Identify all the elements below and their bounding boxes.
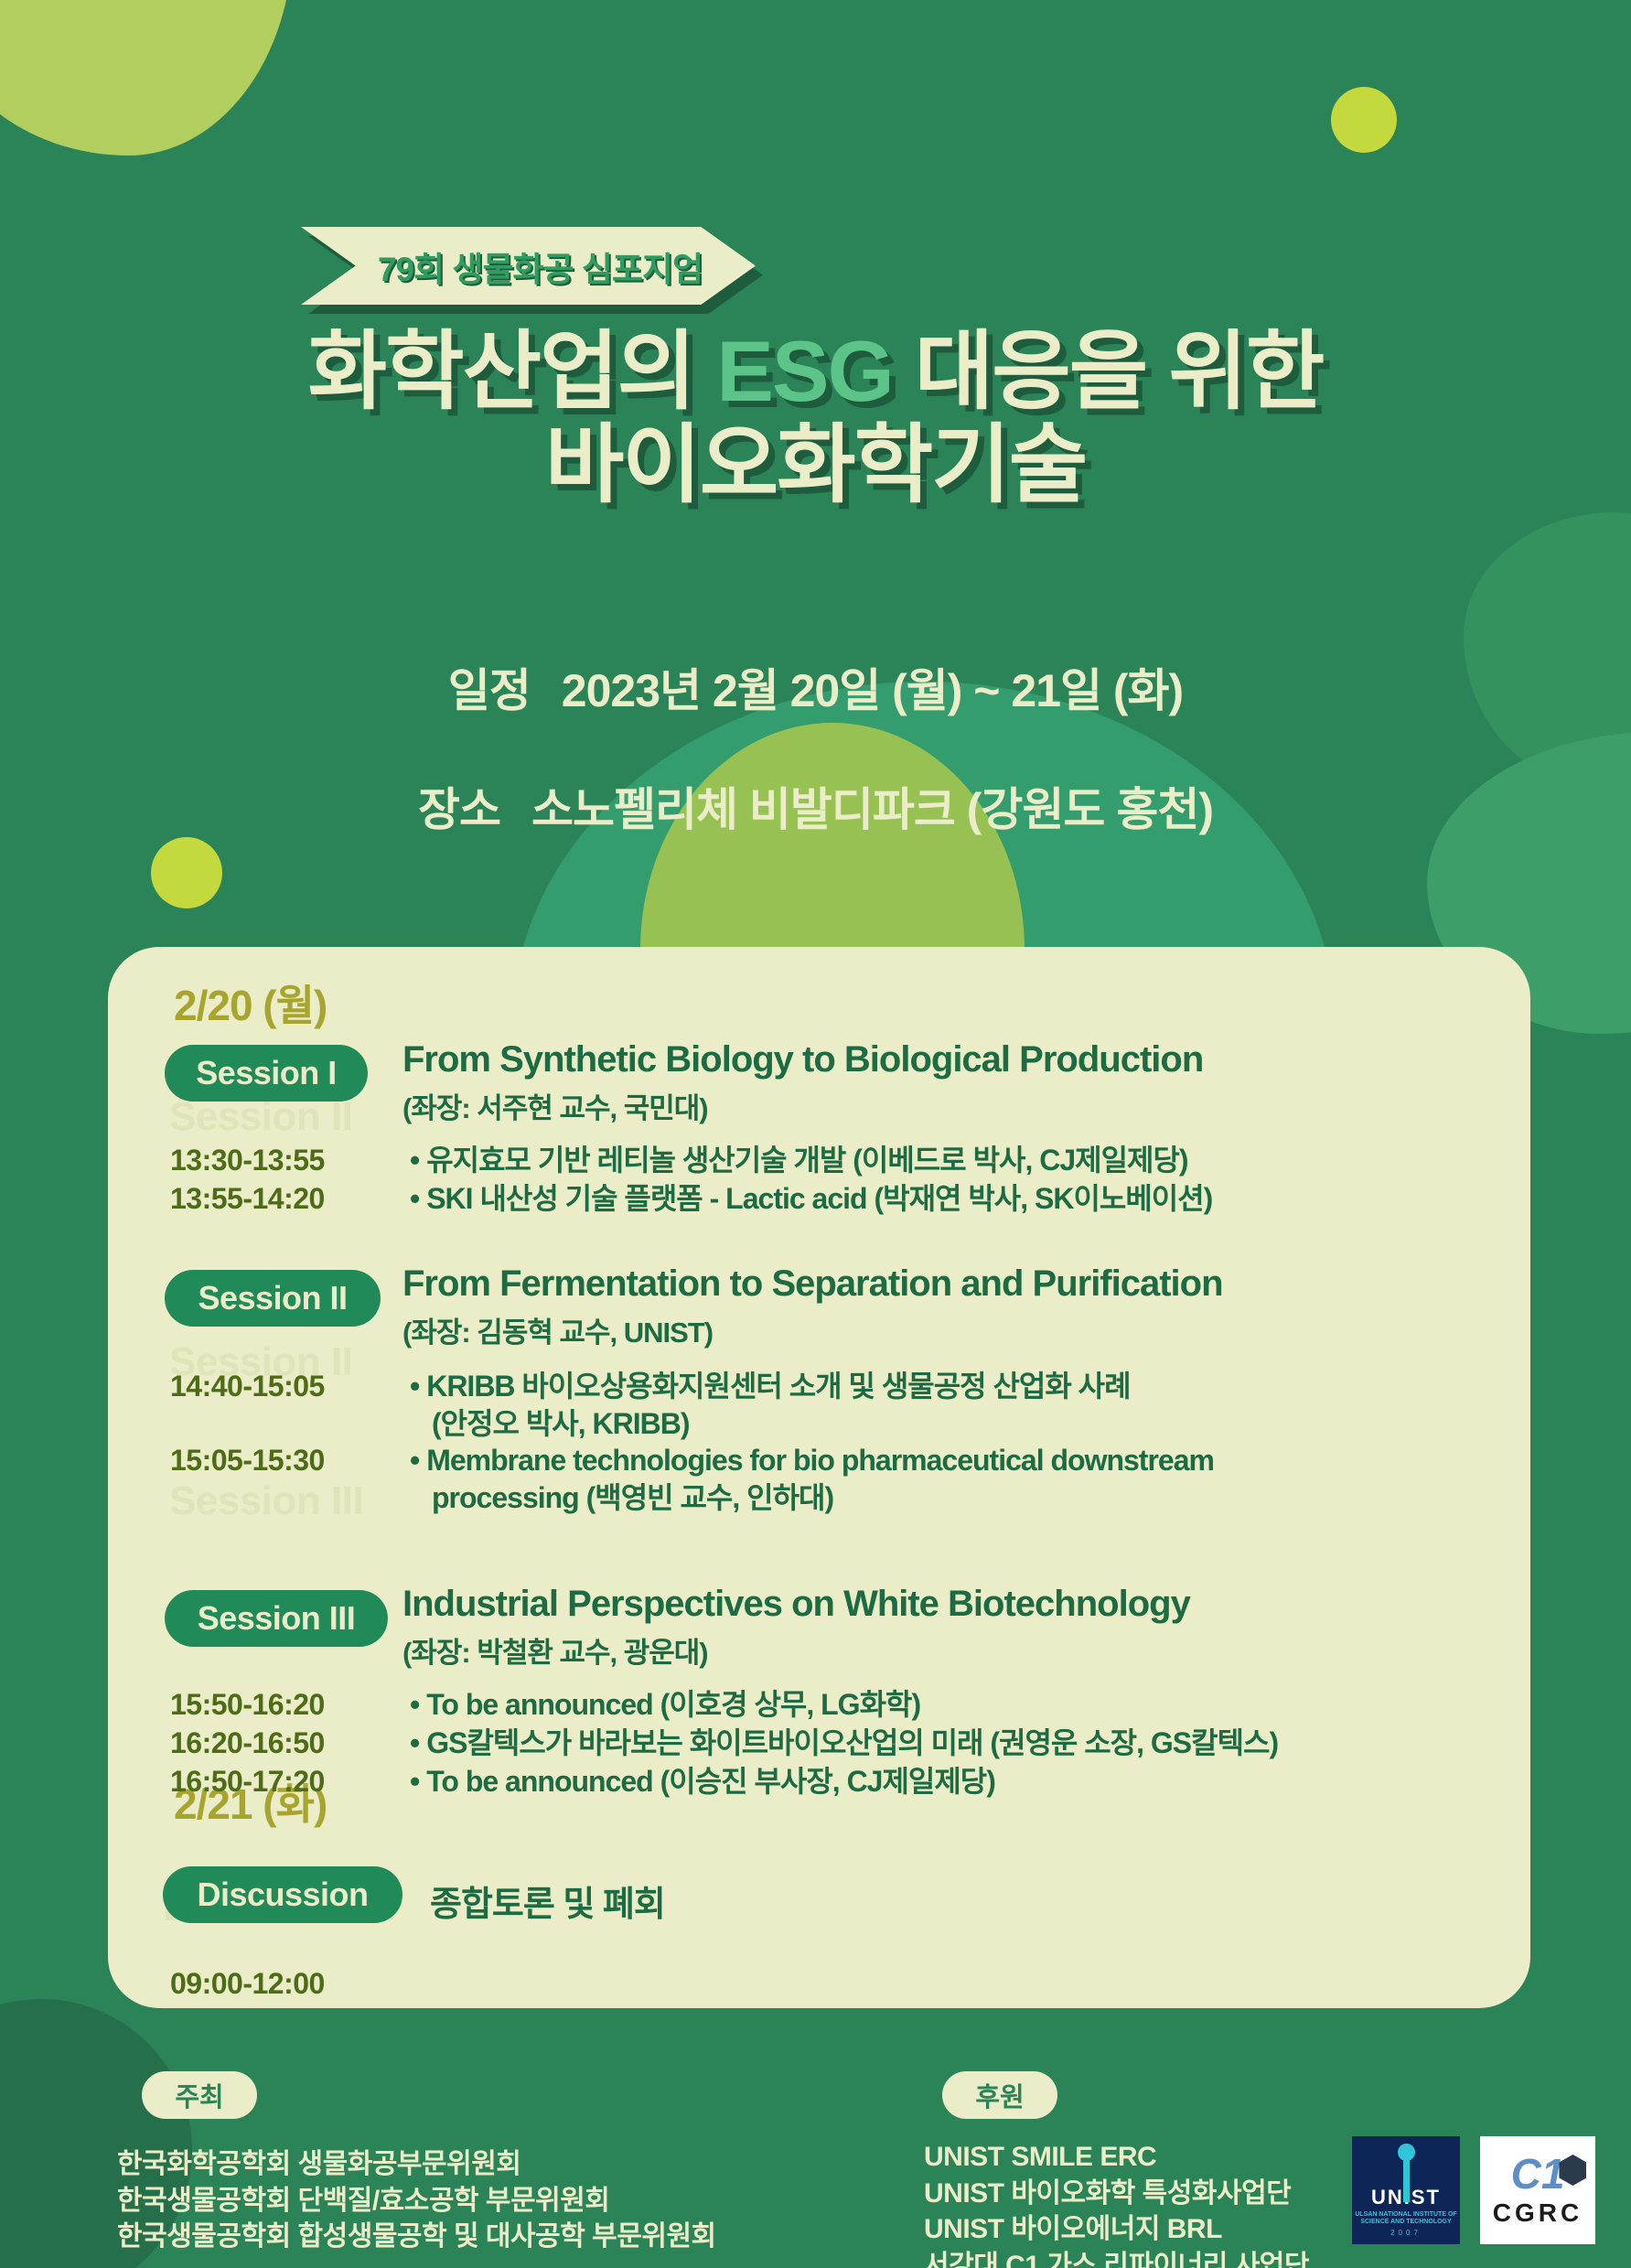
session-3-chair: (좌장: 박철환 교수, 광운대) bbox=[402, 1629, 708, 1671]
bullet-icon: • bbox=[410, 1726, 419, 1759]
session-2-talk-1-time: 14:40-15:05 bbox=[170, 1370, 325, 1403]
decorative-blob-right-upper bbox=[1464, 512, 1631, 787]
title-esg-highlight: ESG bbox=[716, 323, 893, 419]
session-2-talk-2-text: •Membrane technologies for bio pharmaceu… bbox=[410, 1442, 1214, 1478]
session-2-talk-2-time: 15:05-15:30 bbox=[170, 1444, 325, 1478]
poster-title: 화학산업의 ESG 대응을 위한 바이오화학기술 bbox=[0, 325, 1631, 511]
session-3-talk-1-text: •To be announced (이호경 상무, LG화학) bbox=[410, 1686, 920, 1723]
session-2-title: From Fermentation to Separation and Puri… bbox=[402, 1264, 1223, 1303]
poster-root: 79회 생물화공 심포지엄 화학산업의 ESG 대응을 위한 바이오화학기술 일… bbox=[0, 0, 1631, 2268]
event-venue-row: 장소소노펠리체 비발디파크 (강원도 홍천) bbox=[0, 773, 1631, 839]
host-label-pill: 주최 bbox=[142, 2071, 257, 2119]
sponsor-label-pill: 후원 bbox=[942, 2071, 1057, 2119]
title-line-1: 화학산업의 ESG 대응을 위한 bbox=[0, 325, 1631, 418]
decorative-blob-top-left bbox=[0, 0, 293, 156]
bullet-icon: • bbox=[410, 1765, 419, 1798]
date-value: 2023년 2월 20일 (월) ~ 21일 (화) bbox=[562, 665, 1183, 716]
session-3-talk-2-label: GS칼텍스가 바라보는 화이트바이오산업의 미래 (권영운 소장, GS칼텍스) bbox=[426, 1726, 1278, 1759]
bullet-icon: • bbox=[410, 1444, 419, 1477]
session-1-pill: Session I bbox=[165, 1045, 368, 1102]
decorative-dot-left bbox=[151, 837, 222, 908]
session-3-talk-1-time: 15:50-16:20 bbox=[170, 1688, 325, 1722]
session-2-talk-2-label: Membrane technologies for bio pharmaceut… bbox=[426, 1444, 1214, 1477]
cgrc-logo: C1 CGRC bbox=[1480, 2136, 1595, 2244]
session-2-talk-2-text-cont: processing (백영빈 교수, 인하대) bbox=[432, 1479, 833, 1516]
session-2-talk-1-text: •KRIBB 바이오상용화지원센터 소개 및 생물공정 산업화 사례 bbox=[410, 1368, 1131, 1404]
cgrc-logo-c1: C1 bbox=[1511, 2153, 1565, 2195]
day-header-1: 2/20 (월) bbox=[174, 973, 327, 1033]
event-date-row: 일정2023년 2월 20일 (월) ~ 21일 (화) bbox=[0, 654, 1631, 720]
session-3-pill: Session III bbox=[165, 1590, 388, 1647]
session-1-talk-1-label: 유지효모 기반 레티놀 생산기술 개발 (이베드로 박사, CJ제일제당) bbox=[426, 1144, 1187, 1177]
session-3-talk-3-time: 16:50-17:20 bbox=[170, 1765, 325, 1799]
session-3-talk-2-text: •GS칼텍스가 바라보는 화이트바이오산업의 미래 (권영운 소장, GS칼텍스… bbox=[410, 1725, 1278, 1761]
session-3-talk-3-text: •To be announced (이승진 부사장, CJ제일제당) bbox=[410, 1763, 995, 1800]
unist-bar-icon bbox=[1403, 2151, 1410, 2202]
bullet-icon: • bbox=[410, 1688, 419, 1721]
session-3-talk-2-time: 16:20-16:50 bbox=[170, 1726, 325, 1760]
session-3-talk-3-label: To be announced (이승진 부사장, CJ제일제당) bbox=[426, 1765, 995, 1798]
session-1-talk-1-text: •유지효모 기반 레티놀 생산기술 개발 (이베드로 박사, CJ제일제당) bbox=[410, 1142, 1188, 1178]
decorative-dot-top-right bbox=[1331, 87, 1397, 153]
unist-logo: UNIST ULSAN NATIONAL INSTITUTE OF SCIENC… bbox=[1352, 2136, 1460, 2244]
bullet-icon: • bbox=[410, 1144, 419, 1177]
event-ribbon: 79회 생물화공 심포지엄 bbox=[301, 227, 756, 305]
host-list: 한국화학공학회 생물화공부문위원회 한국생물공학회 단백질/효소공학 부문위원회… bbox=[117, 2146, 716, 2255]
bullet-icon: • bbox=[410, 1182, 419, 1215]
session-2-talk-1-label: KRIBB 바이오상용화지원센터 소개 및 생물공정 산업화 사례 bbox=[426, 1370, 1130, 1403]
cgrc-c1-text: C1 bbox=[1511, 2150, 1565, 2198]
cgrc-logo-name: CGRC bbox=[1493, 2198, 1583, 2228]
title-line-2: 바이오화학기술 bbox=[0, 418, 1631, 511]
session-2-chair: (좌장: 김동혁 교수, UNIST) bbox=[402, 1309, 713, 1350]
session-1-chair: (좌장: 서주현 교수, 국민대) bbox=[402, 1085, 708, 1126]
sponsor-list: UNIST SMILE ERC UNIST 바이오화학 특성화사업단 UNIST… bbox=[924, 2139, 1309, 2268]
date-label: 일정 bbox=[448, 665, 531, 716]
unist-logo-year: 2007 bbox=[1390, 2229, 1422, 2237]
session-1-talk-1-time: 13:30-13:55 bbox=[170, 1144, 325, 1177]
ribbon-label: 79회 생물화공 심포지엄 bbox=[354, 242, 703, 291]
bullet-icon: • bbox=[410, 1370, 419, 1403]
title-line-1-b: 대응을 위한 bbox=[893, 323, 1324, 419]
session-1-talk-2-label: SKI 내산성 기술 플랫폼 - Lactic acid (박재연 박사, SK… bbox=[426, 1182, 1212, 1215]
session-3-title: Industrial Perspectives on White Biotech… bbox=[402, 1585, 1190, 1623]
venue-label: 장소 bbox=[418, 784, 500, 835]
unist-logo-subtitle: ULSAN NATIONAL INSTITUTE OF SCIENCE AND … bbox=[1355, 2211, 1456, 2228]
discussion-pill: Discussion bbox=[163, 1866, 402, 1923]
ribbon-body: 79회 생물화공 심포지엄 bbox=[301, 227, 756, 305]
discussion-text: 종합토론 및 폐회 bbox=[430, 1876, 665, 1926]
session-1-talk-2-text: •SKI 내산성 기술 플랫폼 - Lactic acid (박재연 박사, S… bbox=[410, 1180, 1212, 1217]
session-2-talk-1-text-cont: (안정오 박사, KRIBB) bbox=[432, 1405, 690, 1442]
venue-value: 소노펠리체 비발디파크 (강원도 홍천) bbox=[531, 784, 1213, 835]
session-1-talk-2-time: 13:55-14:20 bbox=[170, 1182, 325, 1216]
discussion-time: 09:00-12:00 bbox=[170, 1967, 325, 2001]
session-3-talk-1-label: To be announced (이호경 상무, LG화학) bbox=[426, 1688, 920, 1721]
session-2-pill: Session II bbox=[165, 1270, 381, 1327]
session-1-title: From Synthetic Biology to Biological Pro… bbox=[402, 1040, 1203, 1079]
title-line-1-a: 화학산업의 bbox=[308, 323, 717, 419]
